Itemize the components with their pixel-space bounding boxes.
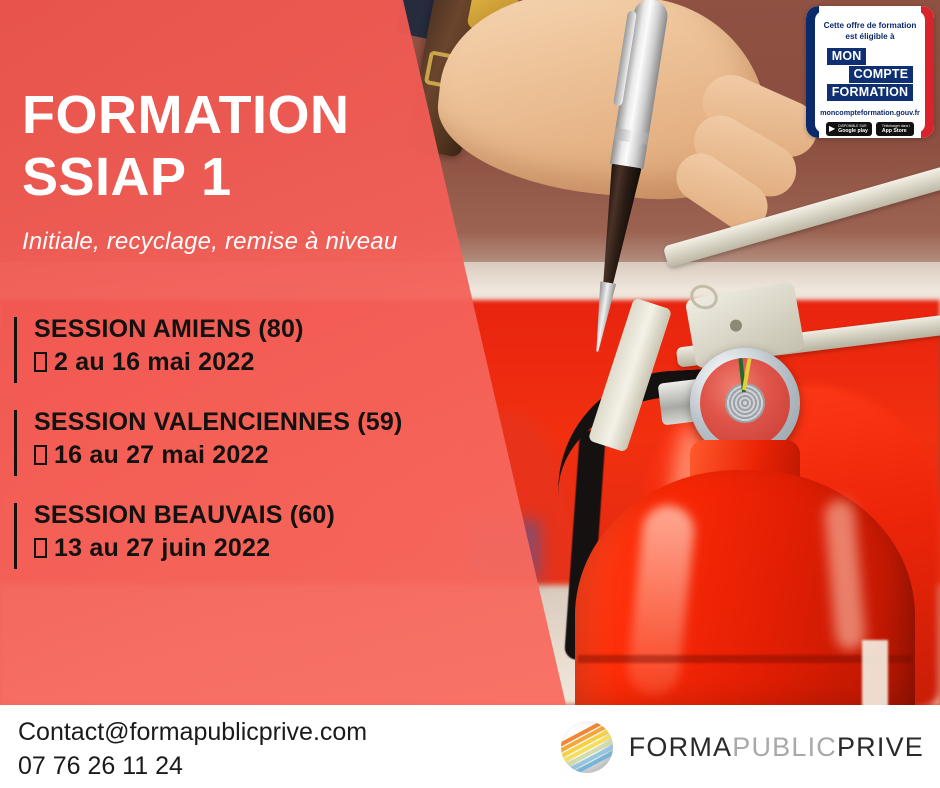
title-line-1: FORMATION — [22, 84, 349, 146]
globe-striped-icon — [561, 721, 613, 773]
google-play-big: Google play — [838, 129, 868, 134]
page-title: FORMATION SSIAP 1 — [22, 84, 349, 208]
session-city: SESSION BEAUVAIS (60) — [34, 500, 480, 531]
badge-url[interactable]: moncompteformation.gouv.fr — [820, 108, 920, 117]
session-date: 13 au 27 juin 2022 — [54, 531, 270, 565]
badge-inner: Cette offre de formation est éligible à … — [815, 11, 925, 133]
poster: FORMATION SSIAP 1 Initiale, recyclage, r… — [0, 0, 940, 788]
session-date: 16 au 27 mai 2022 — [54, 438, 269, 472]
calendar-icon — [34, 352, 47, 372]
list-item: SESSION VALENCIENNES (59) 16 au 27 mai 2… — [10, 407, 480, 472]
list-item: SESSION BEAUVAIS (60) 13 au 27 juin 2022 — [10, 500, 480, 565]
contact-phone[interactable]: 07 76 26 11 24 — [18, 749, 367, 783]
session-date-row: 16 au 27 mai 2022 — [34, 438, 480, 472]
poster-content: FORMATION SSIAP 1 Initiale, recyclage, r… — [0, 0, 940, 705]
session-city: SESSION VALENCIENNES (59) — [34, 407, 480, 438]
brand-prive: PRIVE — [837, 732, 924, 762]
mcf-logo: MON COMPTE FORMATION — [827, 48, 914, 101]
badge-eligibility-text: Cette offre de formation est éligible à — [824, 20, 917, 42]
mcf-formation: FORMATION — [827, 84, 914, 101]
app-store-badge[interactable]: Télécharger dans l App Store — [876, 122, 914, 136]
google-play-text: DISPONIBLE SUR Google play — [838, 124, 868, 134]
mon-compte-formation-badge: Cette offre de formation est éligible à … — [806, 6, 934, 138]
google-play-badge[interactable]: ▶ DISPONIBLE SUR Google play — [826, 122, 872, 136]
footer: Contact@formapublicprive.com 07 76 26 11… — [0, 705, 940, 788]
session-date-row: 2 au 16 mai 2022 — [34, 345, 480, 379]
list-item: SESSION AMIENS (80) 2 au 16 mai 2022 — [10, 314, 480, 379]
badge-line-1: Cette offre de formation — [824, 20, 917, 31]
mcf-compte: COMPTE — [849, 66, 914, 83]
mcf-mon: MON — [827, 48, 867, 65]
brand-forma: FORMA — [629, 732, 733, 762]
calendar-icon — [34, 538, 47, 558]
store-badges: ▶ DISPONIBLE SUR Google play Télécharger… — [826, 122, 914, 136]
page-subtitle: Initiale, recyclage, remise à niveau — [22, 228, 397, 256]
google-play-icon: ▶ — [829, 125, 835, 133]
contact-email[interactable]: Contact@formapublicprive.com — [18, 715, 367, 749]
app-store-big: App Store — [882, 129, 910, 134]
badge-line-2: est éligible à — [824, 31, 917, 42]
app-store-text: Télécharger dans l App Store — [882, 124, 910, 134]
session-city: SESSION AMIENS (80) — [34, 314, 480, 345]
session-date: 2 au 16 mai 2022 — [54, 345, 255, 379]
session-date-row: 13 au 27 juin 2022 — [34, 531, 480, 565]
brand-wordmark: FORMAPUBLICPRIVE — [629, 732, 924, 763]
brand-public: PUBLIC — [732, 732, 837, 762]
sessions-list: SESSION AMIENS (80) 2 au 16 mai 2022 SES… — [10, 314, 480, 593]
calendar-icon — [34, 445, 47, 465]
brand-lockup: FORMAPUBLICPRIVE — [561, 721, 924, 773]
contact-block: Contact@formapublicprive.com 07 76 26 11… — [18, 715, 367, 783]
title-line-2: SSIAP 1 — [22, 146, 349, 208]
